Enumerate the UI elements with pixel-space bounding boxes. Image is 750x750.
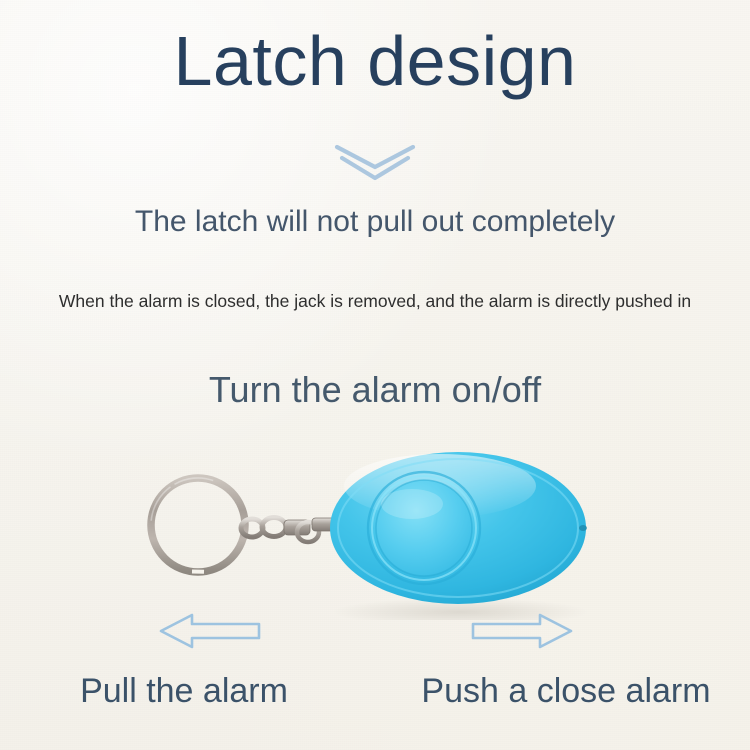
action-label-pull: Pull the alarm	[0, 672, 368, 711]
section-heading: Turn the alarm on/off	[0, 370, 750, 410]
double-chevron-down-icon	[332, 141, 418, 185]
infographic-page: Latch design The latch will not pull out…	[0, 0, 750, 750]
action-label-push: Push a close alarm	[382, 672, 750, 711]
subtitle-text: The latch will not pull out completely	[0, 205, 750, 238]
caption-text: When the alarm is closed, the jack is re…	[0, 291, 750, 312]
keyring-clasp-graphic	[241, 518, 336, 543]
alarm-body-graphic	[330, 452, 587, 604]
arrow-left-icon	[158, 610, 262, 652]
page-title: Latch design	[0, 26, 750, 96]
arrow-right-icon	[470, 610, 574, 652]
product-image	[0, 440, 750, 620]
